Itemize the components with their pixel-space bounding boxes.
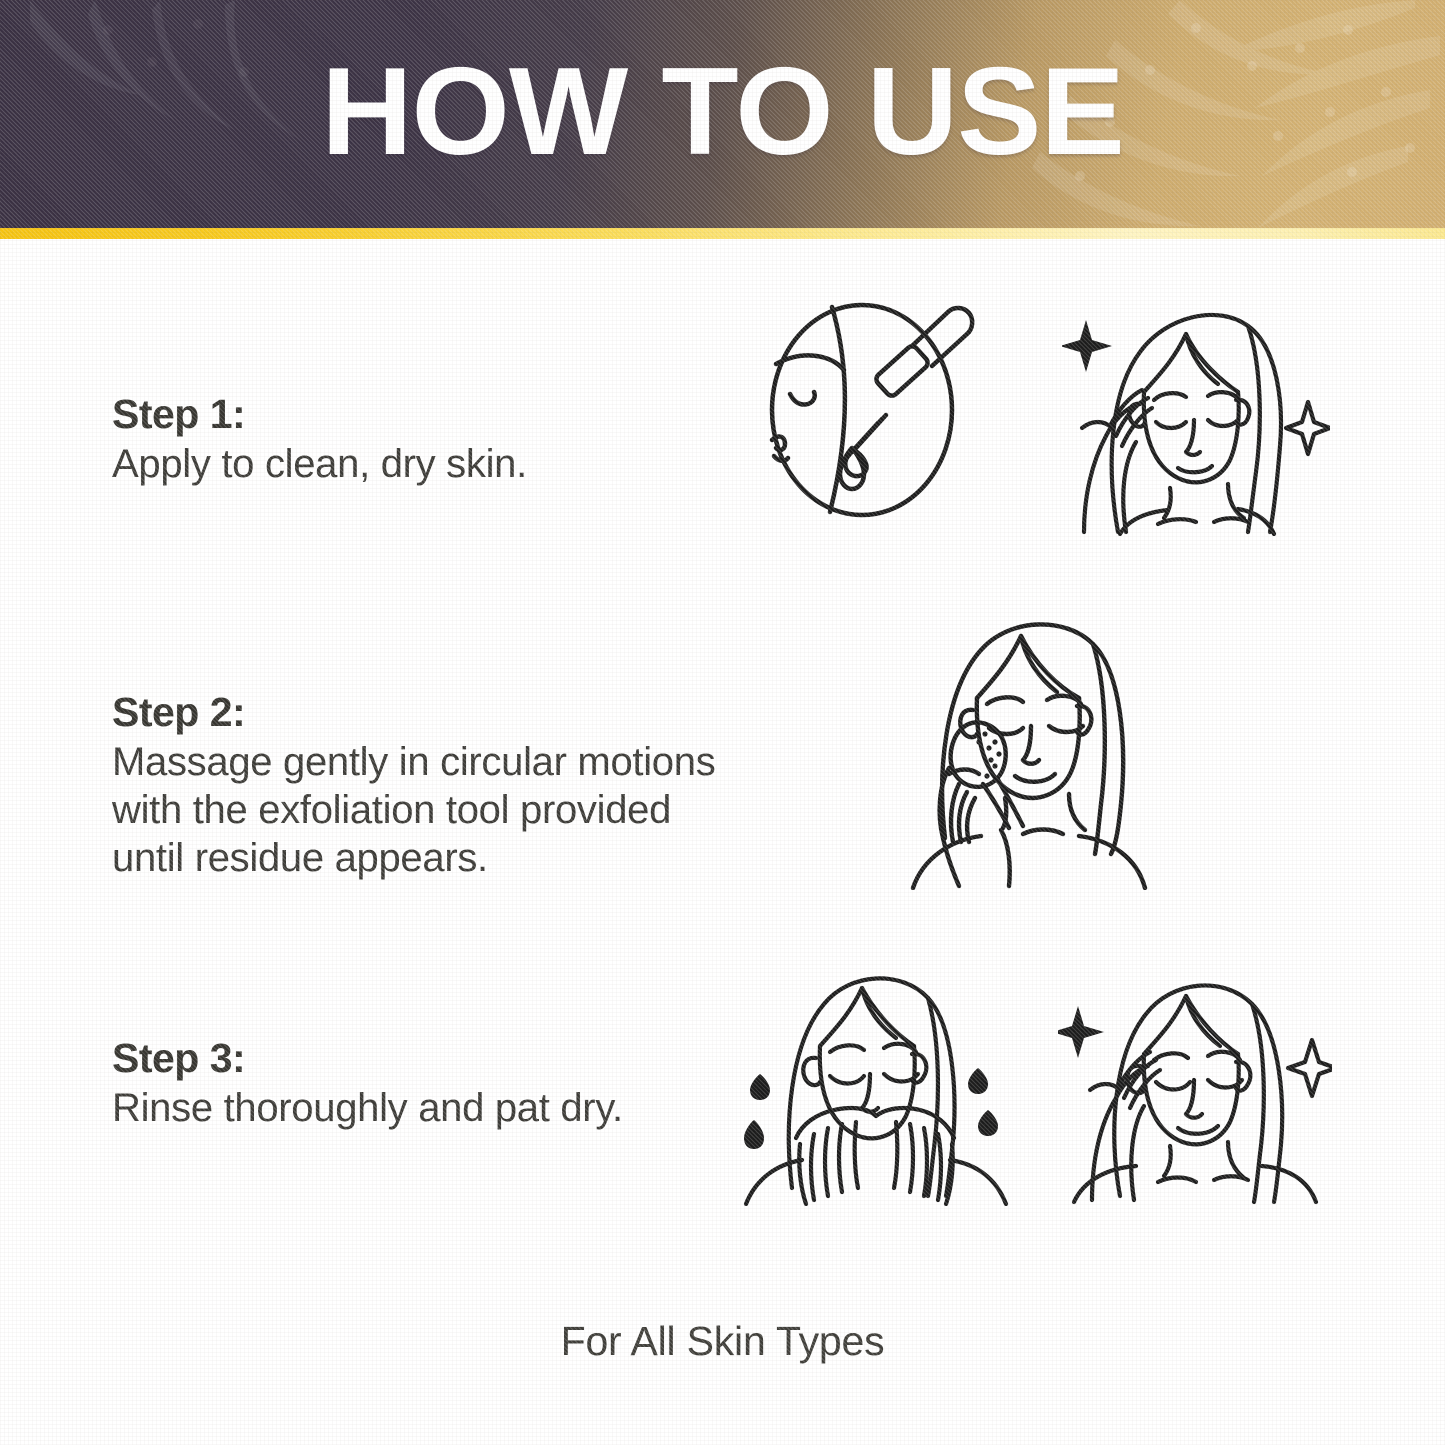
gold-accent-bar	[0, 228, 1445, 239]
woman-using-exfoliation-tool-icon	[905, 608, 1185, 890]
step-2-label: Step 2:	[112, 686, 715, 738]
step-1-body: Apply to clean, dry skin.	[112, 440, 527, 488]
step-2-text-block: Step 2: Massage gently in circular motio…	[112, 686, 715, 882]
footer-tagline: For All Skin Types	[0, 1316, 1445, 1366]
woman-patting-face-sparkles-icon	[1058, 956, 1332, 1206]
woman-touching-face-sparkles-icon	[1062, 296, 1330, 536]
step-3-body: Rinse thoroughly and pat dry.	[112, 1084, 623, 1132]
step-2-body: Massage gently in circular motions with …	[112, 738, 715, 882]
face-dropper-circle-icon	[752, 298, 992, 523]
header-banner: HOW TO USE	[0, 0, 1445, 228]
section-divider-1	[110, 559, 1328, 564]
section-divider-3	[110, 1220, 1328, 1225]
step-3-text-block: Step 3: Rinse thoroughly and pat dry.	[112, 1032, 623, 1132]
step-1-label: Step 1:	[112, 388, 527, 440]
woman-rinsing-face-water-icon	[740, 948, 1012, 1206]
step-1-text-block: Step 1: Apply to clean, dry skin.	[112, 388, 527, 488]
page-title: HOW TO USE	[0, 46, 1445, 178]
how-to-use-infographic: HOW TO USE Step 1: Apply to clean, dry s…	[0, 0, 1445, 1445]
step-3-label: Step 3:	[112, 1032, 623, 1084]
section-divider-2	[110, 921, 1328, 926]
